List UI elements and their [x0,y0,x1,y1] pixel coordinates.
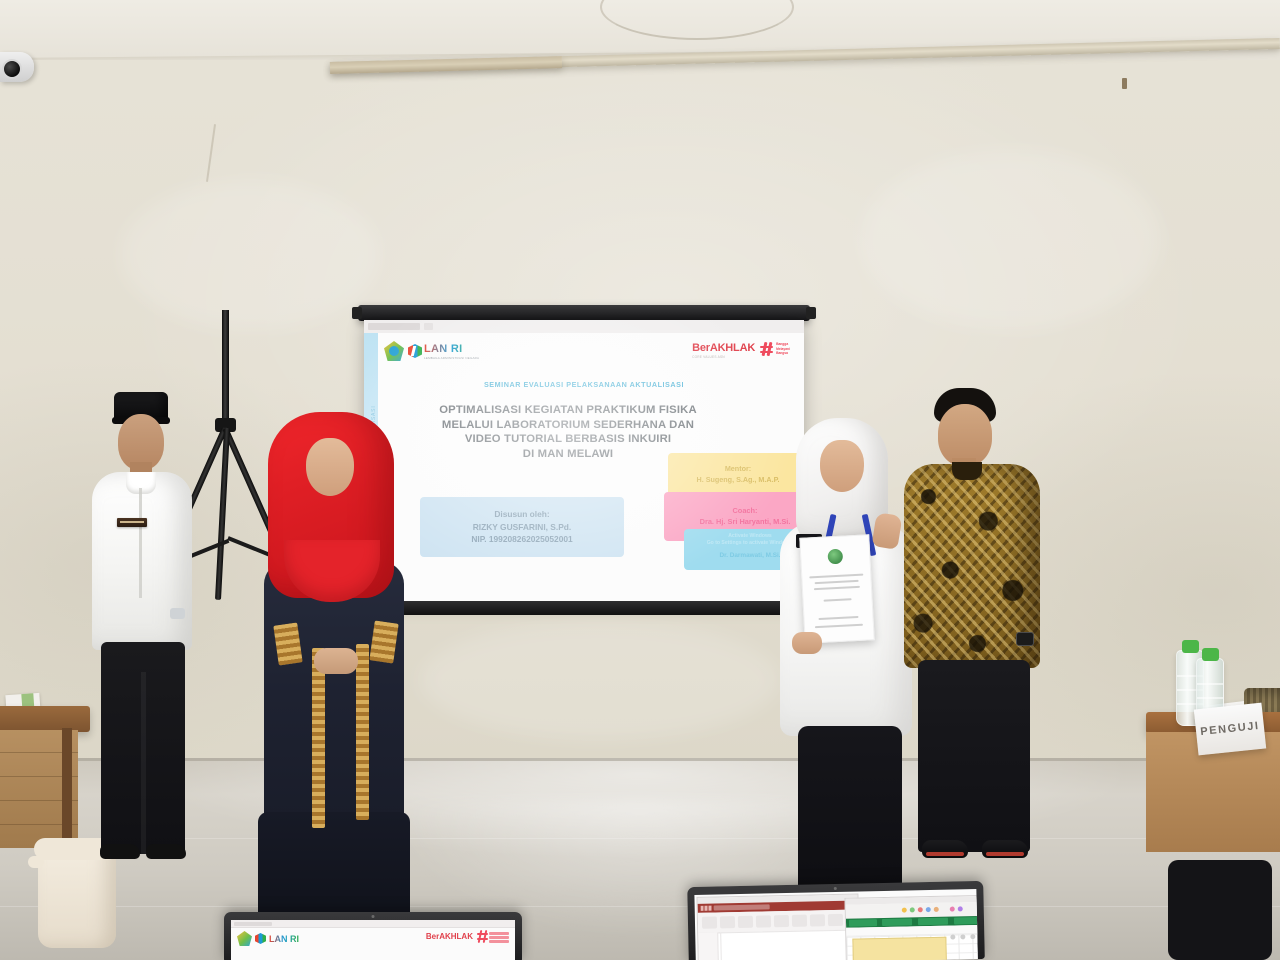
person-man-peci [92,392,202,872]
laptop-lid: LAN RI BerAKHLAK [224,912,522,960]
berakhlak-subtext: CORE VALUES ASN [692,355,755,359]
sneaker [922,840,968,858]
lanri-wordmark: LAN RI [269,934,299,944]
projected-slide: AKTUALISASI LAN RI LEMBAGA ADMINISTRASI … [364,320,804,601]
person-woman-red-hijab [268,412,408,892]
kemenag-pentagon-emblem-icon [237,931,252,946]
berakhlak-wordmark-group: BerAKHLAK CORE VALUES ASN [692,342,755,359]
slide-title-line-3: VIDEO TUTORIAL BERBASIS INKUIRI [402,432,734,447]
supporting-hand [792,632,822,654]
cctv-camera [0,52,34,82]
face-front [306,438,354,496]
bottle-cap [1182,640,1199,653]
excel-window[interactable] [844,895,977,960]
wristwatch [170,608,185,619]
screen-surface: AKTUALISASI LAN RI LEMBAGA ADMINISTRASI … [364,320,804,601]
shoe [146,844,186,859]
laptop-operator[interactable] [687,881,985,960]
projection-screen: AKTUALISASI LAN RI LEMBAGA ADMINISTRASI … [358,305,810,615]
screen-tripod-pole [222,310,229,423]
person-man-batik [912,388,1042,878]
berakhlak-wordmark: BerAKHLAK [692,342,755,354]
hash-icon [760,342,773,356]
desk-left [0,706,90,732]
laptop-presenter[interactable]: LAN RI BerAKHLAK [224,912,522,960]
toolbar-tab [368,323,420,330]
desk-left-leg [62,728,72,848]
cctv-lens [2,59,22,79]
mini-toolbar [231,920,515,928]
slide-kicker: SEMINAR EVALUASI PELAKSANAAN AKTUALISASI [364,380,804,389]
slide-title-line-1: OPTIMALISASI KEGIATAN PRAKTIKUM FISIKA [402,403,734,418]
wristwatch [1016,632,1034,646]
coach-label: Coach: [670,505,804,516]
lanri-logo: LAN RI LEMBAGA ADMINISTRASI NEGARA [384,341,479,361]
white-koko-shirt [92,472,192,650]
person-woman-white-hijab [790,418,920,918]
laptop-lid [687,881,985,960]
slide-body: AKTUALISASI LAN RI LEMBAGA ADMINISTRASI … [364,333,804,601]
author-nip: NIP. 199208262025052001 [426,533,618,546]
shoe [100,844,140,859]
author-label: Disusun oleh: [426,508,618,521]
author-box: Disusun oleh: RIZKY GUSFARINI, S.Pd. NIP… [420,497,624,557]
lanri-subtext: LEMBAGA ADMINISTRASI NEGARA [424,356,479,360]
bottle-cap [1202,648,1219,661]
name-plate-penguji: PENGUJI [1194,703,1266,756]
gold-trim [312,648,325,828]
toolbar-close-icon [424,323,433,330]
author-name: RIZKY GUSFARINI, S.Pd. [426,521,618,534]
word-window[interactable] [696,894,859,960]
shirt-collar [952,462,982,480]
screen-case-top [358,305,810,321]
mini-lanri-logo: LAN RI [237,931,299,946]
kemenag-emblem-icon [827,549,843,565]
bangga-melayani-bangsa-logo: Bangga Melayani Bangsa [760,342,790,356]
black-backpack [1168,860,1272,960]
lanri-hexagon-icon [408,344,422,358]
hash-icon [477,930,509,944]
mentor-box: Mentor: H. Sugeng, S.Ag., M.A.P. [668,453,804,497]
shirt-placket [139,488,142,598]
name-plate-label: PENGUJI [1200,720,1260,738]
mentor-name: H. Sugeng, S.Ag., M.A.P. [674,475,802,486]
nail [1122,78,1127,89]
webcam-icon [372,915,375,918]
ribbon-tabs [714,904,770,910]
navigation-pane[interactable] [698,932,719,960]
screen-weight-bar [358,601,810,615]
photo-scene: PENGUJI AKTUALISASI [0,0,1280,960]
bound-report [799,534,874,644]
black-trousers [918,660,1030,852]
lanri-hexagon-icon [255,933,266,944]
face-front [820,440,864,492]
name-badge [117,518,147,527]
face [938,404,992,466]
black-trousers [101,642,185,854]
presentation-toolbar [364,320,804,334]
laptop-screen-right [694,889,977,960]
highlighted-cells[interactable] [852,937,946,960]
window-controls-icon [701,906,712,911]
bag-tie [28,856,44,868]
clasped-hands [314,648,358,674]
document-page [721,930,850,960]
coach-name: Dra. Hj. Sri Haryanti, M.Si. [670,516,804,527]
laptop-screen-left: LAN RI BerAKHLAK [231,920,515,960]
berakhlak-logo: BerAKHLAK CORE VALUES ASN Bangg [692,342,790,359]
bangga-line-3: Bangsa [776,351,790,355]
sneaker [982,840,1028,858]
mentor-label: Mentor: [674,464,802,475]
slide-title-line-2: MELALUI LABORATORIUM SEDERHANA DAN [402,418,734,433]
lanri-mark-group: LAN RI LEMBAGA ADMINISTRASI NEGARA [408,343,479,360]
lanri-wordmark: LAN RI [424,343,479,355]
kemenag-pentagon-emblem-icon [384,341,404,361]
gold-trim [356,644,369,820]
webcam-icon [834,887,837,890]
berakhlak-wordmark: BerAKHLAK [426,932,473,941]
bangga-tagline: Bangga Melayani Bangsa [776,342,790,355]
